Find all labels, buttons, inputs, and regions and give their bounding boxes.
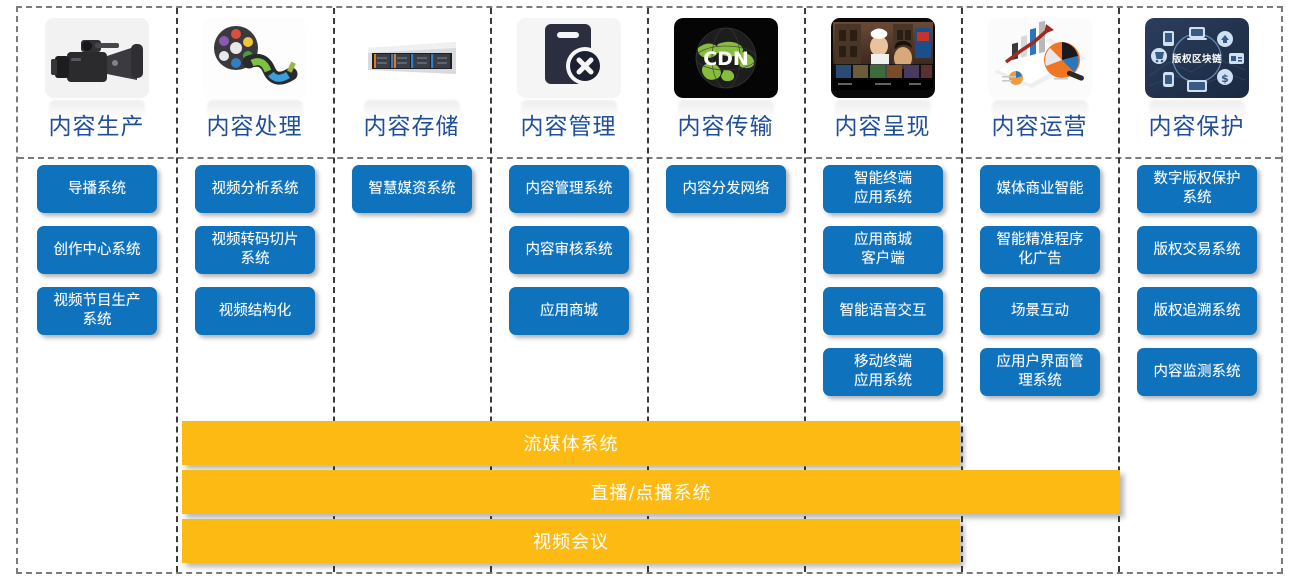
system-box[interactable]: 应用商城客户端 xyxy=(823,226,943,274)
system-box[interactable]: 应用户界面管理系统 xyxy=(980,348,1100,396)
column-header-content-operations: 内容运营 xyxy=(961,8,1118,157)
system-box[interactable]: 版权追溯系统 xyxy=(1137,287,1257,335)
server-rack-icon xyxy=(360,18,464,98)
column-content-protection: $ 版权区块链 xyxy=(1118,8,1275,572)
system-box[interactable]: 视频分析系统 xyxy=(195,165,315,213)
architecture-diagram-frame: 内容生产导播系统创作中心系统视频节目生产系统 内容处理视频分析系统视频转码切片系… xyxy=(16,6,1283,574)
document-x-icon xyxy=(517,18,621,98)
column-header-content-delivery: CDN 内容传输 xyxy=(647,8,804,157)
column-label-content-presentation: 内容呈现 xyxy=(804,107,961,141)
platform-bar-streaming-media-system[interactable]: 流媒体系统 xyxy=(182,421,960,465)
column-header-content-production: 内容生产 xyxy=(18,8,175,157)
column-header-content-processing: 内容处理 xyxy=(176,8,333,157)
system-box[interactable]: 应用商城 xyxy=(509,287,629,335)
column-content-production: 内容生产导播系统创作中心系统视频节目生产系统 xyxy=(18,8,175,572)
svg-text:版权区块链: 版权区块链 xyxy=(1170,53,1221,65)
column-label-content-delivery: 内容传输 xyxy=(647,107,804,141)
platform-bar-video-conference-system[interactable]: 视频会议 xyxy=(182,519,960,563)
column-label-content-operations: 内容运营 xyxy=(961,107,1118,141)
platform-bar-live-vod-system[interactable]: 直播/点播系统 xyxy=(182,470,1120,514)
system-box[interactable]: 场景互动 xyxy=(980,287,1100,335)
svg-text:$: $ xyxy=(1221,72,1229,85)
system-box[interactable]: 视频转码切片系统 xyxy=(195,226,315,274)
system-box[interactable]: 导播系统 xyxy=(37,165,157,213)
video-camera-icon xyxy=(45,18,149,98)
column-label-content-production: 内容生产 xyxy=(18,107,175,141)
system-box[interactable]: 内容监测系统 xyxy=(1137,348,1257,396)
system-box[interactable]: 视频节目生产系统 xyxy=(37,287,157,335)
system-box[interactable]: 视频结构化 xyxy=(195,287,315,335)
column-label-content-protection: 内容保护 xyxy=(1118,107,1275,141)
column-header-content-storage: 内容存储 xyxy=(333,8,490,157)
copyright-blockchain-icon: $ 版权区块链 xyxy=(1145,18,1249,98)
system-box[interactable]: 内容管理系统 xyxy=(509,165,629,213)
column-header-content-management: 内容管理 xyxy=(490,8,647,157)
column-header-content-protection: $ 版权区块链 xyxy=(1118,8,1275,157)
system-box[interactable]: 内容分发网络 xyxy=(666,165,786,213)
svg-text:CDN: CDN xyxy=(703,48,749,70)
film-reel-icon xyxy=(203,18,307,98)
system-box[interactable]: 移动终端应用系统 xyxy=(823,348,943,396)
column-label-content-management: 内容管理 xyxy=(490,107,647,141)
column-label-content-storage: 内容存储 xyxy=(333,107,490,141)
smart-tv-icon xyxy=(831,18,935,98)
column-label-content-processing: 内容处理 xyxy=(176,107,333,141)
system-box[interactable]: 数字版权保护系统 xyxy=(1137,165,1257,213)
system-box[interactable]: 智能终端应用系统 xyxy=(823,165,943,213)
system-box[interactable]: 内容审核系统 xyxy=(509,226,629,274)
analytics-chart-icon xyxy=(988,18,1092,98)
column-header-content-presentation: 内容呈现 xyxy=(804,8,961,157)
system-box[interactable]: 媒体商业智能 xyxy=(980,165,1100,213)
system-box[interactable]: 版权交易系统 xyxy=(1137,226,1257,274)
system-box[interactable]: 创作中心系统 xyxy=(37,226,157,274)
system-box[interactable]: 智能语音交互 xyxy=(823,287,943,335)
cdn-globe-icon: CDN xyxy=(674,18,778,98)
system-box[interactable]: 智慧媒资系统 xyxy=(352,165,472,213)
system-box[interactable]: 智能精准程序化广告 xyxy=(980,226,1100,274)
